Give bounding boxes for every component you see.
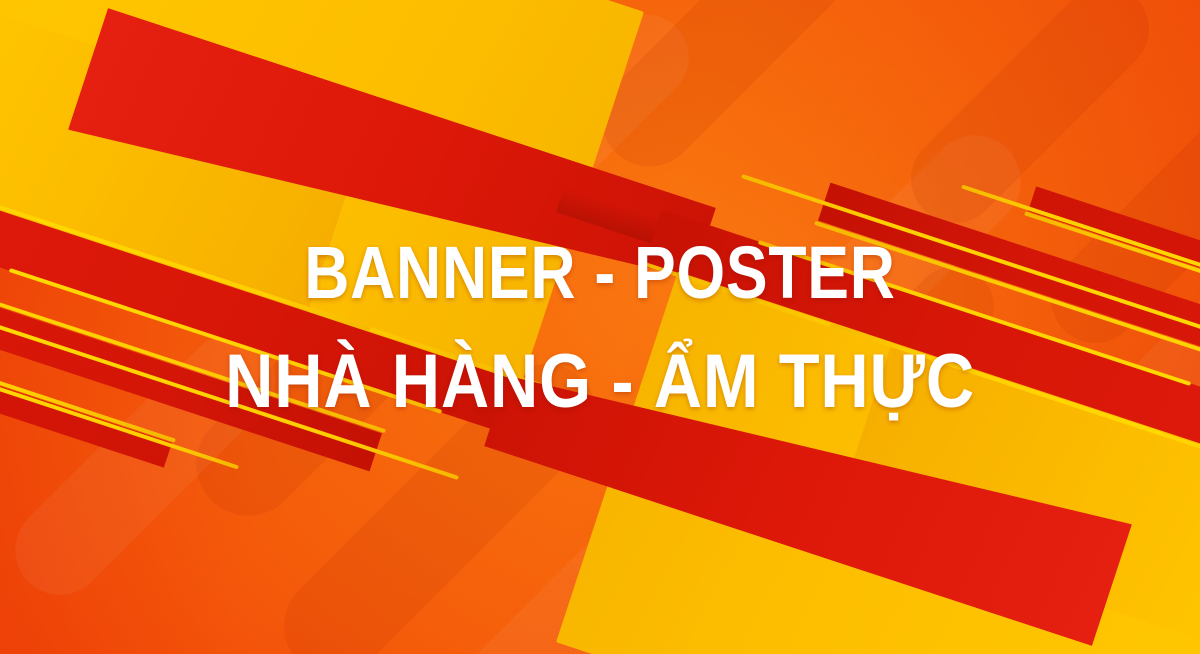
headline-line-1: BANNER - POSTER	[304, 236, 895, 310]
headline-line-2: NHÀ HÀNG - ẨM THỰC	[225, 344, 975, 420]
headline-block: BANNER - POSTER NHÀ HÀNG - ẨM THỰC	[0, 0, 1200, 654]
banner-canvas: BANNER - POSTER NHÀ HÀNG - ẨM THỰC	[0, 0, 1200, 654]
